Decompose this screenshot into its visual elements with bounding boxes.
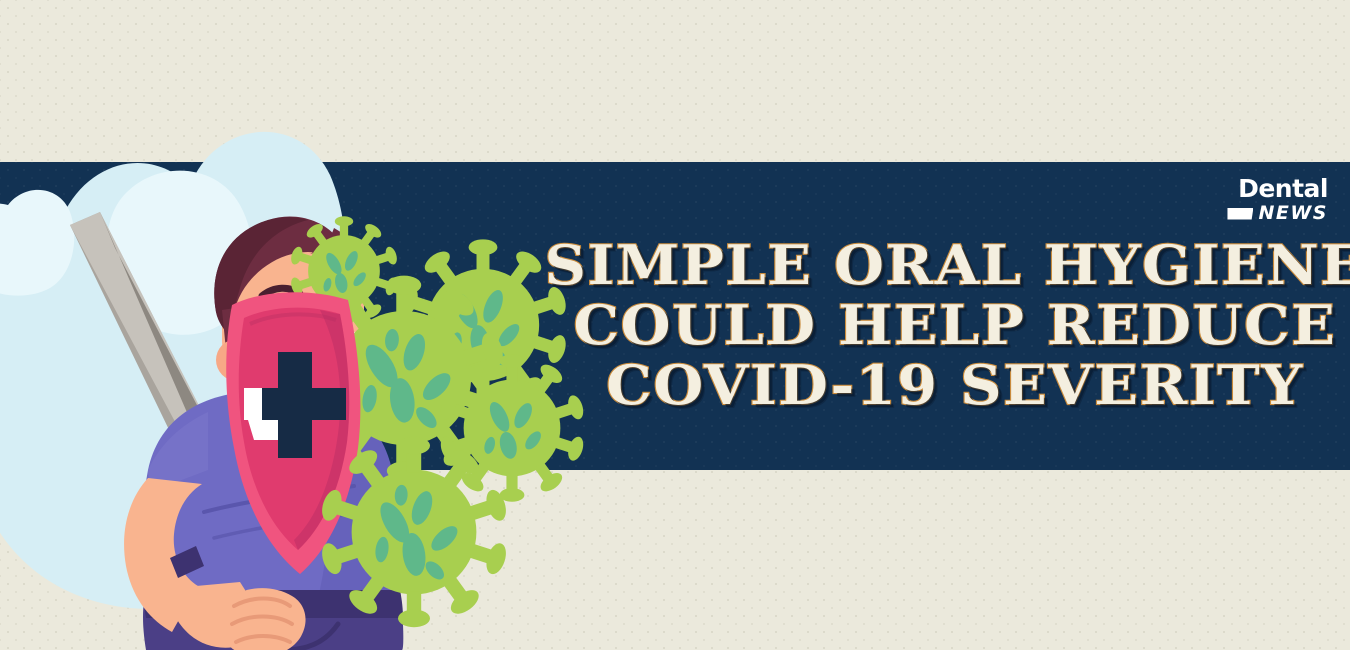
logo-flag-mark-icon (1227, 208, 1253, 220)
headline: SIMPLE ORAL HYGIENE COULD HELP REDUCE CO… (560, 238, 1350, 412)
headline-line-2: COULD HELP REDUCE (536, 298, 1350, 352)
headline-line-1: SIMPLE ORAL HYGIENE (536, 238, 1350, 292)
logo-secondary-text: NEWS (1258, 204, 1328, 223)
article-banner: SIMPLE ORAL HYGIENE COULD HELP REDUCE CO… (0, 0, 1350, 650)
dental-news-logo[interactable]: Dental NEWS (1227, 176, 1328, 223)
hand-gripping-sword (220, 588, 306, 650)
headline-line-3: COVID-19 SEVERITY (536, 358, 1350, 412)
logo-secondary-row: NEWS (1227, 204, 1328, 223)
logo-primary-text: Dental (1227, 176, 1328, 201)
